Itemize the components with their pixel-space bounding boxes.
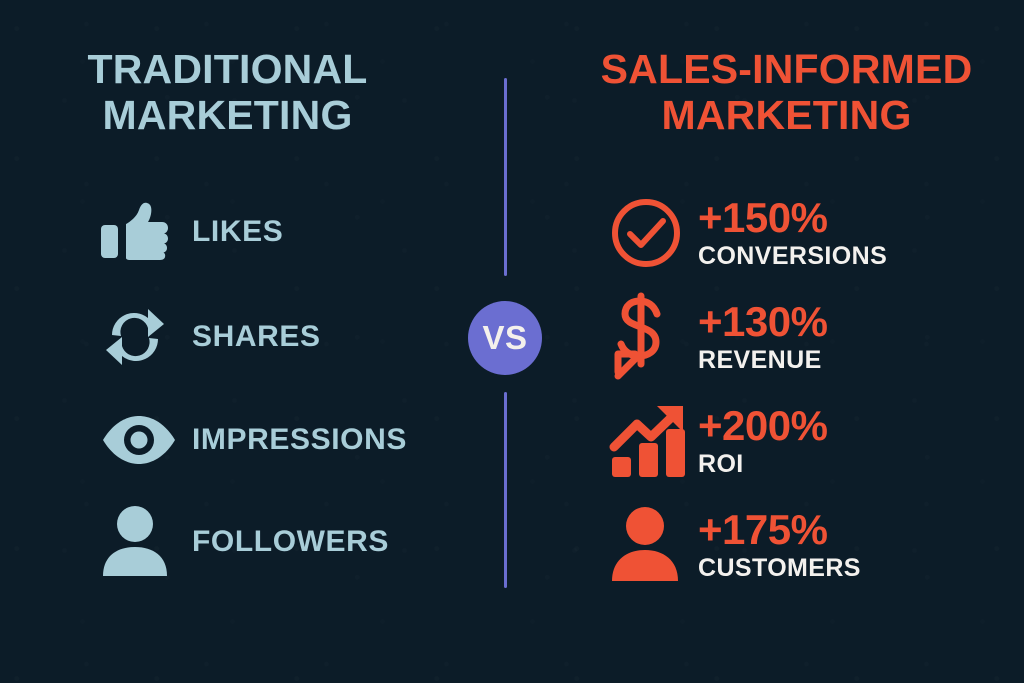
metric-row-shares: SHARES [100,295,321,379]
traditional-marketing-title: TRADITIONAL MARKETING [0,47,505,139]
stat-value-conversions: +150% [698,197,887,239]
stat-row-customers: +175% CUSTOMERS [610,498,861,592]
stat-value-customers: +175% [698,509,861,551]
metric-label-likes: LIKES [192,215,283,249]
metric-row-followers: FOLLOWERS [100,500,389,584]
stat-label-customers: CUSTOMERS [698,556,861,581]
stat-customers: +175% CUSTOMERS [698,509,861,581]
person-icon [100,506,192,578]
metric-label-impressions: IMPRESSIONS [192,423,407,457]
stat-value-revenue: +130% [698,301,827,343]
metric-label-shares: SHARES [192,320,321,354]
stat-conversions: +150% CONVERSIONS [698,197,887,269]
metric-row-likes: LIKES [100,190,283,274]
stat-label-conversions: CONVERSIONS [698,244,887,269]
stat-row-conversions: +150% CONVERSIONS [610,186,887,280]
thumbs-up-icon [100,202,192,262]
check-circle-icon [610,197,698,269]
person-icon [610,507,698,583]
dollar-arrow-icon [610,294,698,380]
metric-label-followers: FOLLOWERS [192,525,389,559]
growth-chart-icon [610,403,698,479]
stat-roi: +200% ROI [698,405,827,477]
stat-value-roi: +200% [698,405,827,447]
metric-row-impressions: IMPRESSIONS [100,398,407,482]
eye-icon [100,414,192,466]
sales-informed-marketing-title: SALES-INFORMED MARKETING [505,47,1024,139]
stat-revenue: +130% REVENUE [698,301,827,373]
share-repeat-icon [100,304,192,370]
stat-label-revenue: REVENUE [698,348,827,373]
stat-row-revenue: +130% REVENUE [610,290,827,384]
stat-row-roi: +200% ROI [610,394,827,488]
infographic-canvas: TRADITIONAL MARKETING LIKES SHARES [0,0,1024,683]
stat-label-roi: ROI [698,452,827,477]
